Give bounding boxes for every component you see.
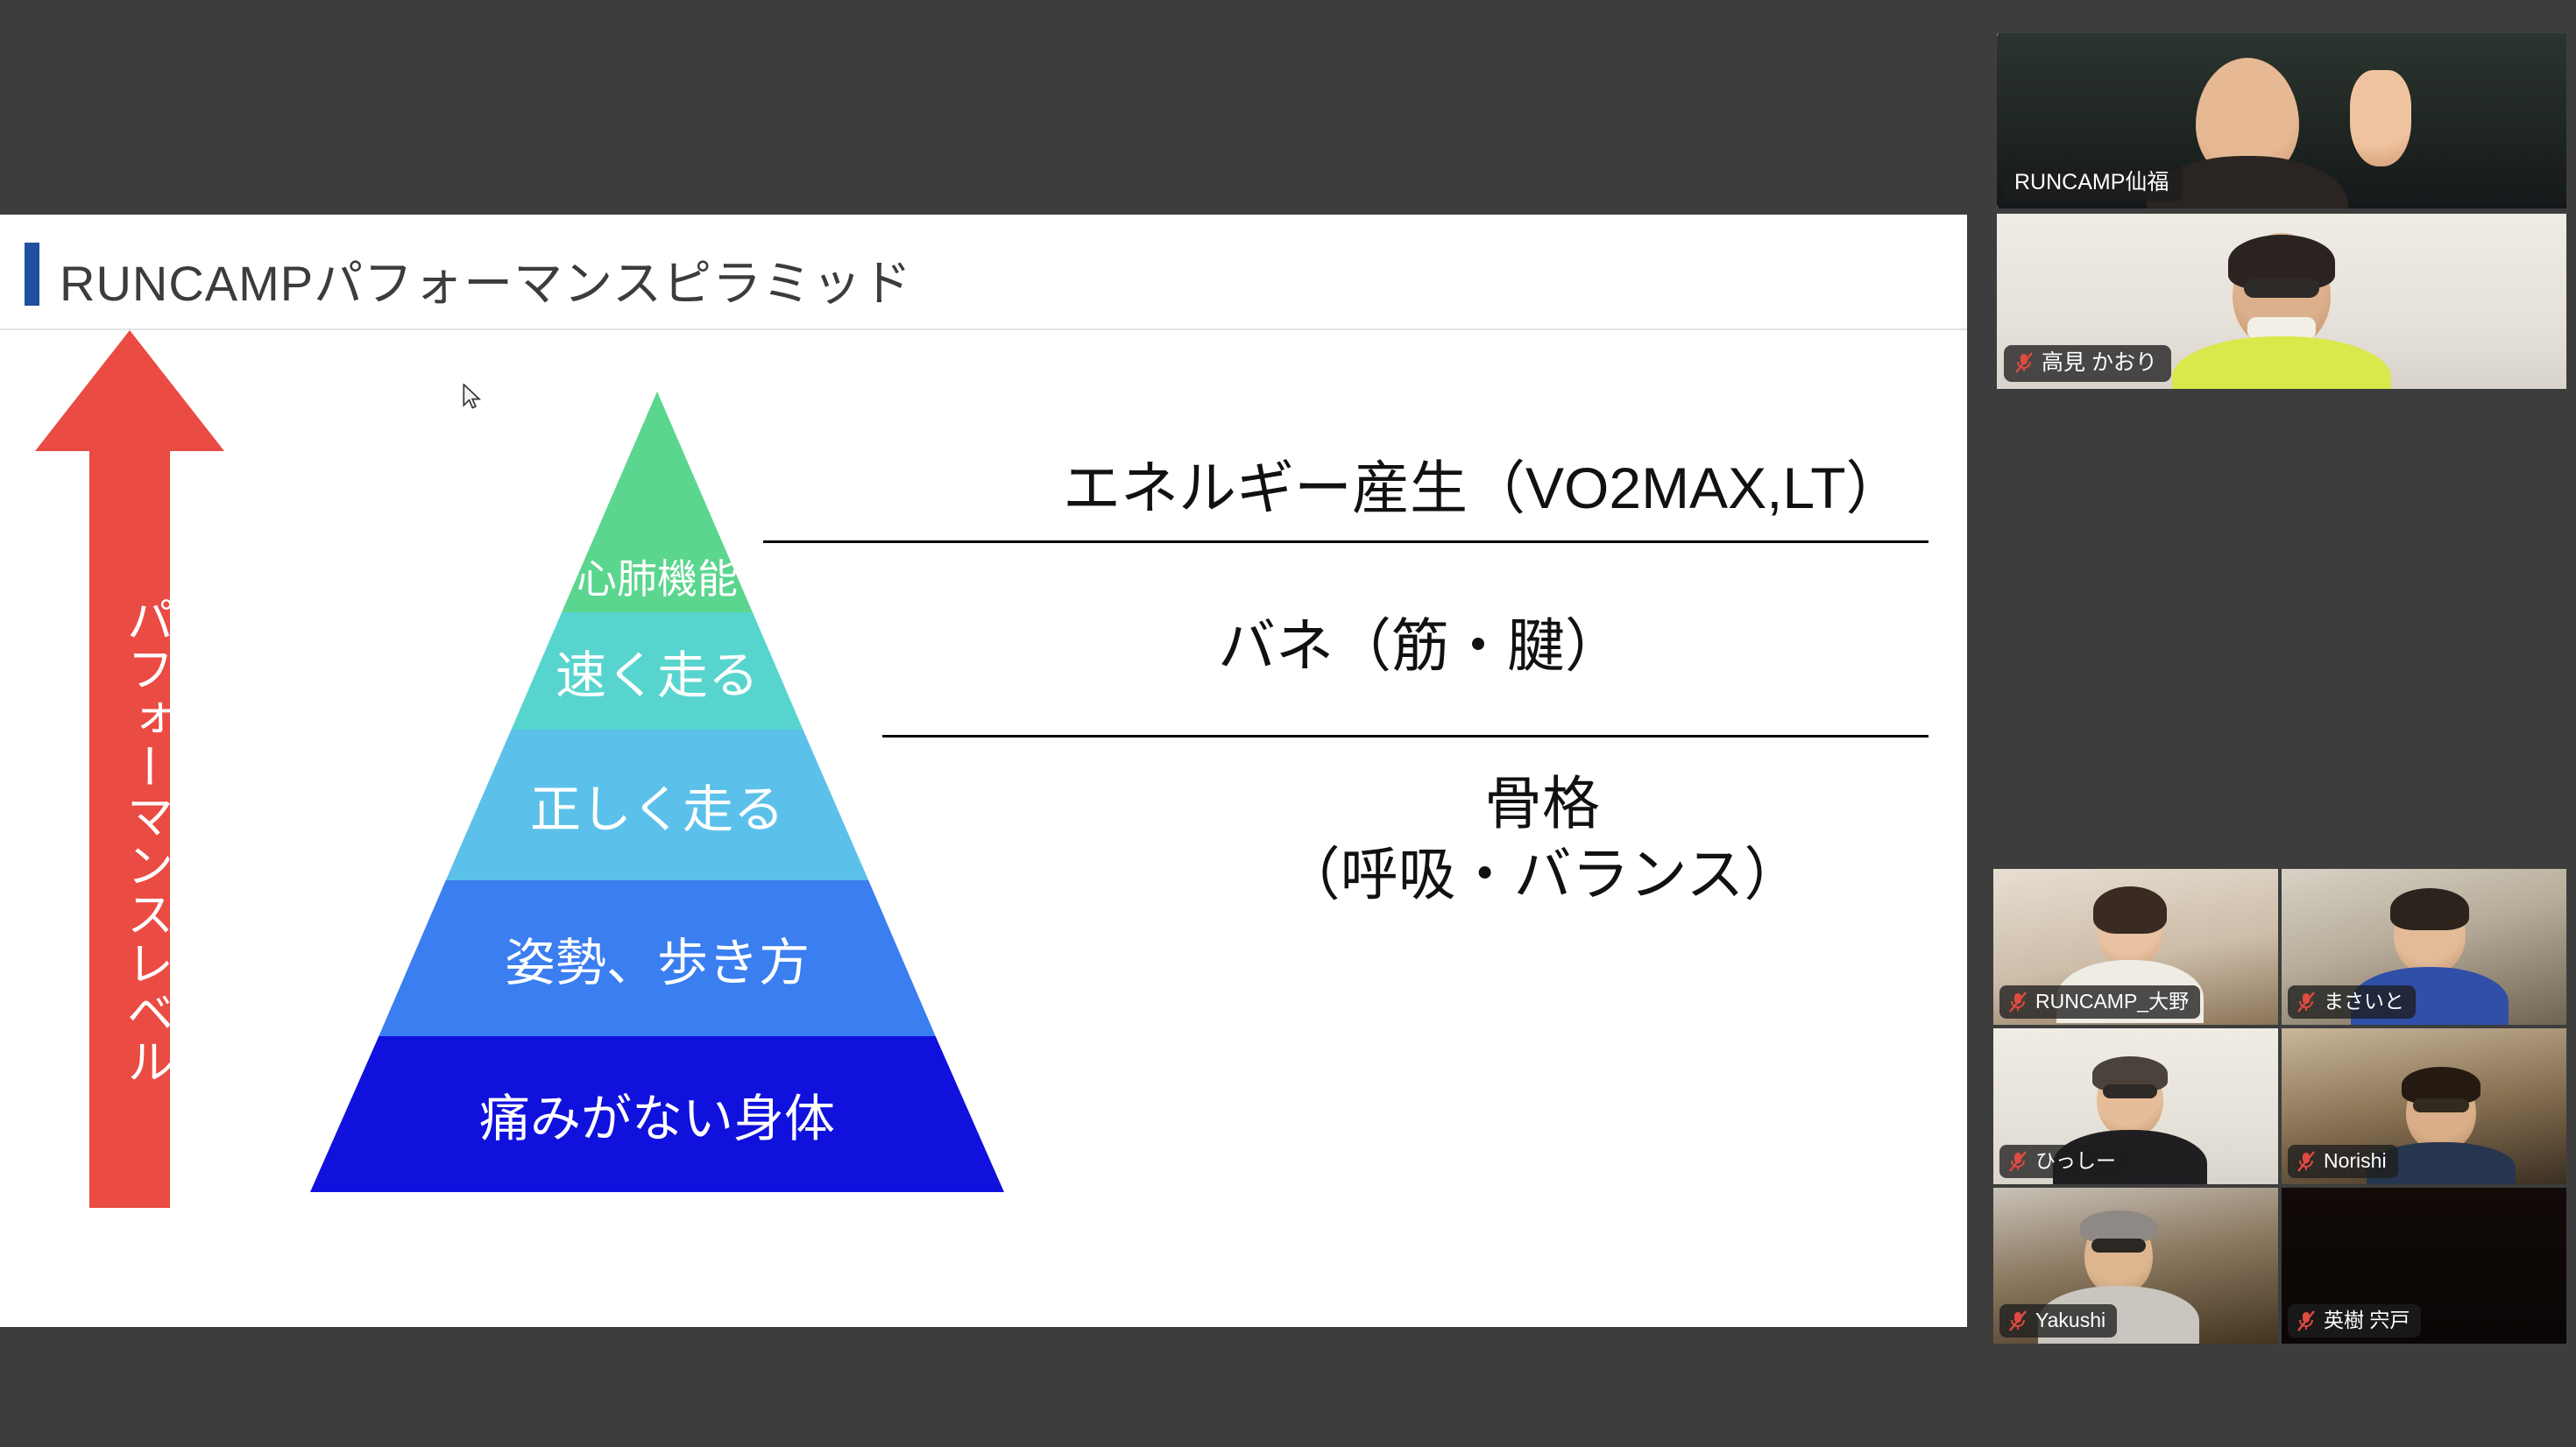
annotation-skeleton-line-1: 骨格 [1192, 768, 1893, 839]
pyramid-layer-2: 速く走る [263, 612, 1051, 730]
name-badge: RUNCAMP仙福 [2004, 165, 2183, 201]
name-badge: まさいと [2288, 985, 2416, 1019]
participant-name: Norishi [2324, 1148, 2387, 1174]
participant-name: 高見 かおり [2042, 349, 2157, 377]
participant-name: RUNCAMP仙福 [2014, 169, 2169, 196]
name-badge: 英樹 宍戸 [2288, 1304, 2421, 1338]
name-badge: Yakushi [1999, 1304, 2117, 1338]
name-badge: RUNCAMP_大野 [1999, 985, 2200, 1019]
name-badge: 高見 かおり [2004, 345, 2171, 382]
annotation-divider-2 [882, 735, 1928, 738]
name-badge: ひっしー [1999, 1145, 2127, 1178]
annotation-spring: バネ（筋・腱） [1218, 611, 1623, 681]
mic-muted-icon [2014, 351, 2034, 374]
slide-header: RUNCAMPパフォーマンスピラミッド [0, 215, 1967, 330]
participant-name: RUNCAMP_大野 [2035, 989, 2189, 1014]
title-accent-bar [25, 243, 39, 306]
pyramid-layer-2-label: 速く走る [556, 634, 759, 708]
participant-name: Yakushi [2035, 1308, 2105, 1333]
zoom-meeting-window: RUNCAMPパフォーマンスピラミッド パフォーマンスレベル 心肺機能 速く走る [0, 0, 2576, 1447]
annotation-energy: エネルギー産生（VO2MAX,LT） [1063, 453, 1904, 524]
pyramid-layer-5: 痛みがない身体 [263, 1036, 1051, 1192]
mic-muted-icon [2008, 1150, 2028, 1173]
mic-muted-icon [2296, 991, 2316, 1013]
pyramid-layer-1-label: 心肺機能 [577, 547, 738, 605]
pyramid-layer-5-label: 痛みがない身体 [479, 1077, 835, 1151]
mouse-cursor-icon [463, 384, 482, 410]
pyramid-layer-4: 姿勢、歩き方 [263, 880, 1051, 1036]
participant-name: 英樹 宍戸 [2324, 1308, 2410, 1333]
performance-level-arrow: パフォーマンスレベル [35, 330, 228, 1215]
annotation-energy-line-1: エネルギー産生（VO2MAX,LT） [1063, 455, 1904, 520]
pyramid-layer-3: 正しく走る [263, 730, 1051, 880]
shared-screen-slide: RUNCAMPパフォーマンスピラミッド パフォーマンスレベル 心肺機能 速く走る [0, 215, 1967, 1327]
annotation-skeleton-line-2: （呼吸・バランス） [1192, 839, 1893, 910]
mic-muted-icon [2296, 1150, 2316, 1173]
participant-tile-takami-kaori[interactable]: 高見 かおり [1997, 214, 2566, 389]
performance-pyramid: 心肺機能 速く走る 正しく走る 姿勢、歩き方 痛みがない身体 [263, 392, 1051, 1215]
participant-tile-runcamp-ohno[interactable]: RUNCAMP_大野 [1993, 869, 2278, 1025]
participant-name: ひっしー [2035, 1148, 2116, 1174]
participant-tile-runcamp-senpuku[interactable]: RUNCAMP仙福 [1997, 33, 2566, 208]
name-badge: Norishi [2288, 1145, 2398, 1178]
mic-muted-icon [2008, 991, 2028, 1013]
pyramid-layer-4-label: 姿勢、歩き方 [505, 921, 810, 995]
participant-tile-yakushi[interactable]: Yakushi [1993, 1188, 2278, 1344]
mic-muted-icon [2296, 1309, 2316, 1332]
participant-tile-norishi[interactable]: Norishi [2282, 1028, 2566, 1184]
participant-tile-hisshi[interactable]: ひっしー [1993, 1028, 2278, 1184]
participant-tile-hideki-shishido[interactable]: 英樹 宍戸 [2282, 1188, 2566, 1344]
mic-muted-icon [2008, 1309, 2028, 1332]
participant-tile-masaito[interactable]: まさいと [2282, 869, 2566, 1025]
arrow-head-icon [35, 330, 224, 451]
pyramid-layer-3-label: 正しく走る [530, 768, 784, 842]
participants-filmstrip: RUNCAMP仙福 高 [1976, 0, 2576, 1447]
page-title: RUNCAMPパフォーマンスピラミッド [60, 244, 912, 315]
pyramid-layer-1: 心肺機能 [263, 392, 1051, 612]
annotation-divider-1 [763, 540, 1928, 543]
slide-body: パフォーマンスレベル 心肺機能 速く走る 正しく走る 姿勢、歩き方 [0, 330, 1967, 1327]
annotation-spring-line-1: バネ（筋・腱） [1218, 613, 1623, 678]
annotation-skeleton: 骨格 （呼吸・バランス） [1192, 768, 1893, 909]
arrow-label: パフォーマンスレベル [89, 462, 170, 1206]
participant-name: まさいと [2324, 989, 2404, 1014]
